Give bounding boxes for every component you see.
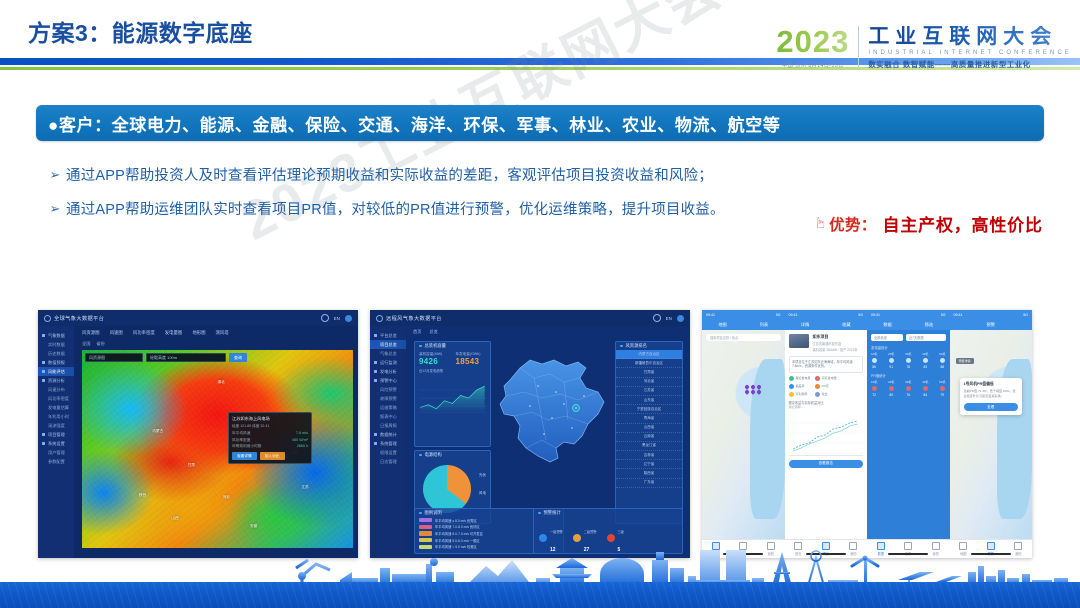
logo-year-sub: 中国·苏州 8月14日-15日 <box>782 62 844 69</box>
sidebar-item[interactable]: 日报周报 <box>370 421 406 430</box>
project-title: 如东项目 <box>813 334 858 340</box>
rank-row-label: 黑龙江省 <box>642 443 656 448</box>
rank-card[interactable]: 风资源排名 内蒙古自治区 新疆维吾尔自治区 甘肃省 河北省 江苏省 山东省 宁夏… <box>615 341 683 524</box>
avatar[interactable] <box>345 315 352 322</box>
alert-chip[interactable]: 预警详情 <box>956 358 974 364</box>
nav-item[interactable]: 预警 <box>987 322 995 328</box>
status-bar: 09:41 5G <box>950 310 1033 319</box>
advantage-callout: ☝ 优势： 自主产权，高性价比 <box>816 211 1043 236</box>
climate-logo-icon <box>376 315 383 322</box>
sidebar-item[interactable]: 平台总览 <box>370 331 406 340</box>
data-column: 5#机88 <box>939 352 945 369</box>
rank-row-label: 吉林省 <box>644 453 655 458</box>
rank-row[interactable]: 新疆维吾尔自治区 <box>616 359 682 368</box>
unit-filter-value: 全部机组 <box>874 335 887 340</box>
rank-row[interactable]: 吉林省 <box>616 451 682 460</box>
height-select-value: 轮毂高度 100m <box>150 355 177 361</box>
popup-row: 风功率密度 465 W/m² <box>232 438 308 443</box>
sidebar-item-label: 年利用小时 <box>42 414 69 420</box>
sidebar-item[interactable]: 年利用小时 <box>38 412 74 421</box>
phone-map-screen[interactable]: 09:41 5G 地图 列表 搜索项目名称 / <box>702 310 785 558</box>
query-button[interactable]: 查询 <box>229 353 247 362</box>
data-panel: 全部机组 近7天数据 发电量统计 1#机86 2#机91 3#机78 4#机83… <box>867 330 950 540</box>
stat-metric: 年发电量(GWh) 18543 <box>456 352 487 366</box>
page-title: 方案3：能源数字底座 <box>28 14 253 48</box>
bullet-marker: ➢ <box>44 162 66 190</box>
section-title: 发电量统计 <box>871 345 946 350</box>
search-input[interactable]: 搜索项目名称 / 地点 <box>706 334 781 341</box>
rank-row-label: 山西省 <box>644 425 655 430</box>
map-pin-icon <box>744 389 750 395</box>
status-network: 5G <box>858 313 863 317</box>
map-popup-card[interactable]: 江苏如东海上风电场 经度 121.85 纬度 32.41 年平均风速 7.8 m… <box>228 412 312 464</box>
map-canvas[interactable]: 预警详情 1号风机PR值偏低 当前PR值 72.4%，低于阈值 80%。建议检查… <box>950 330 1033 540</box>
tab-item[interactable]: 测风塔 <box>216 330 229 336</box>
rank-card-header: 风资源排名 <box>616 342 682 350</box>
report-button[interactable]: 查看报告 <box>789 460 864 468</box>
sidebar-item[interactable]: 系统管理 <box>370 439 406 448</box>
climate-app-title: 远程风气象大数据平台 <box>386 315 442 322</box>
eiffel-tower-icon <box>772 552 792 586</box>
tab-item[interactable]: 风资源图 <box>82 330 100 336</box>
weather-subtabs[interactable]: 全国 省份 <box>74 339 358 348</box>
chart-legend: 理论预期 — <box>789 405 864 409</box>
sidebar-item-label: 风能评估 <box>48 369 65 375</box>
status-bar: 09:41 5G <box>785 310 868 319</box>
customer-banner: ●客户：全球电力、能源、金融、保险、交通、海洋、环保、军事、林业、农业、物流、航… <box>36 105 1044 141</box>
status-network: 5G <box>1023 313 1028 317</box>
metric-cell[interactable]: PR值 <box>815 384 838 389</box>
sidebar-item[interactable]: 历史数据 <box>38 349 74 358</box>
customer-banner-label: 客户：全球电力、能源、金融、保险、交通、海洋、环保、军事、林业、农业、物流、航空… <box>59 116 781 135</box>
sidebar-item-label: 数据统计 <box>380 432 397 438</box>
pie-card-title: 电源结构 <box>425 452 442 458</box>
sidebar-item-label: 预警中心 <box>380 378 397 384</box>
popup-title: 江苏如东海上风电场 <box>232 416 308 422</box>
alert-action-button[interactable]: 处理 <box>964 403 1019 411</box>
wind-resource-heatmap[interactable]: 内蒙古 甘肃 陕西 山西 河北 山东 河南 江苏 安徽 湖北 风资源图 轮毂高度… <box>82 350 353 548</box>
sidebar-item-label: 数值预报 <box>48 360 65 366</box>
status-time: 09:41 <box>706 313 715 317</box>
popup-row: 年等效利用小时数 2860 h <box>232 444 308 449</box>
project-subtitle: 江苏省南通市如东县 <box>813 341 858 346</box>
sidebar-item[interactable]: 系统设置 <box>38 439 74 448</box>
sidebar-item-label: 资源分析 <box>48 378 65 384</box>
sidebar-item-label: 气象总览 <box>374 351 397 357</box>
sidebar-item[interactable]: 气象总览 <box>370 349 406 358</box>
climate-titlebar: 远程风气象大数据平台 EN <box>370 310 690 326</box>
nav-bar[interactable]: 数据 筛选 <box>867 319 950 330</box>
rank-row[interactable]: 黑龙江省 <box>616 442 682 451</box>
map-pin-cluster[interactable] <box>745 385 762 394</box>
height-select[interactable]: 轮毂高度 100m <box>146 353 226 362</box>
tab-item[interactable]: 风速图 <box>110 330 123 336</box>
rank-row-label: 广东省 <box>644 480 655 485</box>
project-meta: 装机容量 300MW · 投产 2021年 <box>813 347 858 352</box>
map-label: 安徽 <box>250 524 257 529</box>
metric-cell[interactable]: 可利用率 <box>789 392 812 397</box>
bullet-item: ➢ 通过APP帮助投资人及时查看评估理论预期收益和实际收益的差距，客观评估项目投… <box>44 162 814 190</box>
data-columns: 1#机86 2#机91 3#机78 4#机83 5#机88 <box>871 352 946 369</box>
phone-data-table-screen[interactable]: 09:41 5G 数据 筛选 全部机组 近7天数据 发电量统计 <box>867 310 950 558</box>
data-column: 3#机78 <box>905 352 911 369</box>
range-filter-value: 近7天数据 <box>909 335 924 340</box>
metric-label: 理论发电量 <box>796 376 811 380</box>
detail-header: 如东项目 江苏省南通市如东县 装机容量 300MW · 投产 2021年 <box>789 334 864 352</box>
language-label[interactable]: EN <box>334 316 340 321</box>
subtab-item[interactable]: 省份 <box>96 341 104 347</box>
popup-row-value: 465 W/m² <box>292 438 308 443</box>
map-icon <box>959 542 967 550</box>
climate-content: 首页 总览 <box>406 326 690 558</box>
warning-card[interactable]: 预警统计 一级预警12 二级预警27 三级5 <box>533 508 683 554</box>
status-time: 09:41 <box>789 313 798 317</box>
metric-cell[interactable]: 理论发电量 <box>789 376 812 381</box>
section-title: PR值统计 <box>871 373 946 378</box>
legend-row-label: 年平均风速 6.0-7.0 m/s 可开发区 <box>435 531 483 536</box>
sidebar-item-label: 系统管理 <box>380 441 397 447</box>
subtab-item[interactable]: 全国 <box>82 341 90 347</box>
sidebar-item-active[interactable]: 项目总览 <box>370 340 406 349</box>
alert-icon <box>987 542 995 550</box>
sidebar-item[interactable]: 运行监测 <box>370 358 406 367</box>
sidebar-item[interactable]: 湍流强度 <box>38 421 74 430</box>
screenshot-strip: 全球气象大数据平台 EN 气象数据 实时数据 历史数据 数值预报 风能评估 资源… <box>38 310 1032 558</box>
column-header: 3#机 <box>905 352 911 356</box>
nav-item[interactable]: 地图 <box>718 322 726 328</box>
water-area <box>750 359 785 519</box>
rank-row[interactable]: 河北省 <box>616 378 682 387</box>
rank-row[interactable]: 陕西省 <box>616 469 682 478</box>
alert-card[interactable]: 1号风机PR值偏低 当前PR值 72.4%，低于阈值 80%。建议检查叶片污染及… <box>960 378 1023 415</box>
sidebar-item-label: 项目管理 <box>48 432 65 438</box>
customer-bullet-mark: ● <box>48 116 59 135</box>
sidebar-item-label: 风险预警 <box>374 387 397 393</box>
alert-title: 1号风机PR值偏低 <box>964 382 1019 387</box>
tower-icon <box>652 552 684 586</box>
sidebar-item[interactable]: 数据统计 <box>370 430 406 439</box>
sidebar-item[interactable]: 预警中心 <box>370 376 406 385</box>
popup-row-key: 风功率密度 <box>232 438 250 443</box>
alert-icon <box>904 542 912 550</box>
project-note: 本项目位于江苏如东近海海域，年平均风速 7.8m/s，资源条件优良。 <box>789 356 864 373</box>
search-placeholder: 搜索项目名称 / 地点 <box>710 335 738 340</box>
rank-row[interactable]: 宁夏回族自治区 <box>616 405 682 414</box>
rank-row-label: 陕西省 <box>644 471 655 476</box>
climate-titlebar-actions: EN <box>653 314 684 322</box>
rank-row-label: 云南省 <box>644 434 655 439</box>
column-header: 1#机 <box>871 352 877 356</box>
metric-grid: 理论发电量 实际发电量 偏差率 PR值 可利用率 收益 <box>789 376 864 397</box>
stat-card-header: 总装机容量 <box>415 342 490 350</box>
metric-cell[interactable]: 偏差率 <box>789 384 812 389</box>
map-pin-icon <box>756 389 762 395</box>
rank-row[interactable]: 辽宁省 <box>616 460 682 469</box>
rank-row[interactable]: 江苏省 <box>616 387 682 396</box>
layer-select[interactable]: 风资源图 <box>85 353 143 362</box>
rank-row-label: 新疆维吾尔自治区 <box>635 361 663 366</box>
popup-row-value: 7.8 m/s <box>296 431 308 436</box>
breadcrumb-item[interactable]: 首页 <box>413 329 421 335</box>
metric-label: 收益 <box>822 392 828 396</box>
breadcrumb[interactable]: 首页 总览 <box>406 326 690 337</box>
bullet-text: 通过APP帮助投资人及时查看评估理论预期收益和实际收益的差距，客观评估项目投资收… <box>66 162 713 190</box>
weather-titlebar: 全球气象大数据平台 EN <box>38 310 358 326</box>
weather-content: 风资源图 风速图 风功率密度 发电量图 地形图 测风塔 全国 省份 内蒙古 甘肃 <box>74 326 358 558</box>
sidebar-item-label: 历史数据 <box>42 351 65 357</box>
sidebar-item-label: 发电量估算 <box>42 405 69 411</box>
legend-card-title: 图例说明 <box>425 510 442 516</box>
skyline-ground <box>0 582 1080 608</box>
data-column: 1#机72 <box>871 380 877 397</box>
language-label[interactable]: EN <box>666 316 672 321</box>
tab-item[interactable]: 风功率密度 <box>133 330 155 336</box>
stat-metrics: 装机容量(MW) 9426 年发电量(GWh) 18543 <box>415 350 490 368</box>
popup-row-value: 2860 h <box>297 444 308 449</box>
popup-row-key: 年平均风速 <box>232 431 250 436</box>
data-column: 2#机80 <box>888 380 894 397</box>
sidebar-item-active[interactable]: 风能评估 <box>38 367 74 376</box>
sidebar-item-label: 运行监测 <box>380 360 397 366</box>
sidebar-item[interactable]: 发电分析 <box>370 367 406 376</box>
popup-coords: 经度 121.85 纬度 32.41 <box>232 424 308 429</box>
logo-year: 2023 <box>776 26 849 57</box>
rank-row[interactable]: 山东省 <box>616 396 682 405</box>
status-network: 5G <box>941 313 946 317</box>
sidebar-item-label: 日志管理 <box>374 459 397 465</box>
sidebar-item[interactable]: 日志管理 <box>370 457 406 466</box>
bullet-list: ➢ 通过APP帮助投资人及时查看评估理论预期收益和实际收益的差距，客观评估项目投… <box>44 162 814 230</box>
sidebar-item[interactable]: 风速分布 <box>38 385 74 394</box>
project-thumbnail <box>789 334 809 348</box>
sidebar-item[interactable]: 运维策略 <box>370 403 406 412</box>
data-column: 3#机76 <box>905 380 911 397</box>
map-label: 湖北 <box>218 380 225 385</box>
sidebar-item[interactable]: 数值预报 <box>38 358 74 367</box>
data-column: 4#机83 <box>922 352 928 369</box>
range-filter[interactable]: 近7天数据 <box>906 334 946 341</box>
column-header: 4#机 <box>922 380 928 384</box>
metric-label: 偏差率 <box>796 384 805 388</box>
nav-item[interactable]: 详情 <box>801 322 809 328</box>
sidebar-item[interactable]: 发电量估算 <box>38 403 74 412</box>
legend-row-label: 年平均风速 7.0-8.0 m/s 良好区 <box>435 524 480 529</box>
map-toolbar[interactable]: 风资源图 轮毂高度 100m 查询 <box>85 353 350 362</box>
climate-sidebar[interactable]: 平台总览 项目总览 气象总览 运行监测 发电分析 预警中心 风险预警 故障预警 … <box>370 326 406 558</box>
data-icon <box>877 542 885 550</box>
sidebar-item-label: 参数配置 <box>42 459 65 465</box>
bullet-text: 通过APP帮助运维团队实时查看项目PR值，对较低的PR值进行预警，优化运维策略，… <box>66 196 725 224</box>
status-time: 09:41 <box>871 313 880 317</box>
metric-label: PR值 <box>822 384 829 388</box>
sidebar-item-label: 实时数据 <box>42 342 65 348</box>
data-column: 4#机84 <box>922 380 928 397</box>
nav-item[interactable]: 筛选 <box>925 322 933 328</box>
sidebar-item[interactable]: 用户管理 <box>38 448 74 457</box>
phone-alert-map-screen[interactable]: 09:41 5G 预警 预警详情 1号风机PR值偏低 当前PR值 72.4%，低… <box>950 310 1033 558</box>
sidebar-item-label: 发电分析 <box>380 369 397 375</box>
sidebar-item[interactable]: 实时数据 <box>38 340 74 349</box>
metric-label: 实际发电量 <box>822 376 837 380</box>
column-header: 1#机 <box>871 380 877 384</box>
map-label: 内蒙古 <box>152 429 163 434</box>
weather-sidebar[interactable]: 气象数据 实时数据 历史数据 数值预报 风能评估 资源分析 风速分布 风功率密度… <box>38 326 74 558</box>
stat-metric-value: 9426 <box>419 357 450 366</box>
screenshot-climate-dashboard[interactable]: 远程风气象大数据平台 EN 平台总览 项目总览 气象总览 运行监测 发电分析 预… <box>370 310 690 558</box>
warning-stat-key: 一级预警 <box>550 530 563 534</box>
metric-cell[interactable]: 实际发电量 <box>815 376 838 381</box>
sidebar-item[interactable]: 风险预警 <box>370 385 406 394</box>
sidebar-item-label: 湍流强度 <box>42 423 65 429</box>
logo-tagline: 数实融合 数智赋能——高质量推进新型工业化 <box>868 59 1072 70</box>
popup-actions: 查看详情 加入对比 <box>232 452 308 460</box>
rank-row[interactable]: 云南省 <box>616 433 682 442</box>
rank-row-label: 内蒙古自治区 <box>639 352 660 357</box>
status-network: 5G <box>776 313 781 317</box>
legend-row-label: 年平均风速 < 5.0 m/s 较差区 <box>435 544 477 549</box>
avatar[interactable] <box>677 315 684 322</box>
unit-filter[interactable]: 全部机组 <box>871 334 903 341</box>
sidebar-item[interactable]: 资源分析 <box>38 376 74 385</box>
tab-item[interactable]: 地形图 <box>192 330 205 336</box>
weather-app-title: 全球气象大数据平台 <box>54 315 104 322</box>
layer-select-value: 风资源图 <box>89 355 105 361</box>
skyline-silhouette <box>0 550 1080 586</box>
rank-row-label: 河北省 <box>644 379 655 384</box>
nav-bar[interactable]: 详情 收藏 <box>785 319 868 330</box>
nav-item[interactable]: 收藏 <box>842 322 850 328</box>
popup-row-key: 年等效利用小时数 <box>232 444 262 449</box>
user-icon <box>1014 542 1022 550</box>
popup-compare-button[interactable]: 加入对比 <box>260 452 285 460</box>
advantage-label: 优势： <box>829 213 876 235</box>
filter-row[interactable]: 全部机组 近7天数据 <box>871 334 946 341</box>
map-label: 河北 <box>223 495 230 500</box>
weather-titlebar-actions: EN <box>321 314 352 322</box>
logo-year-block: 2023 中国·苏州 8月14日-15日 <box>776 26 859 69</box>
sidebar-item-label: 报表中心 <box>374 414 397 420</box>
rank-row-label: 宁夏回族自治区 <box>637 407 662 412</box>
slide-root: 方案3：能源数字底座 2023 中国·苏州 8月14日-15日 工业互联网大会 … <box>0 0 1080 608</box>
conference-logo: 2023 中国·苏州 8月14日-15日 工业互联网大会 INDUSTRIAL … <box>776 26 1072 70</box>
legend-row-label: 年平均风速 5.0-6.0 m/s 一般区 <box>435 538 480 543</box>
column-header: 5#机 <box>939 380 945 384</box>
warning-stat-key: 二级预警 <box>584 530 597 534</box>
user-icon <box>932 542 940 550</box>
rank-row[interactable]: 甘肃省 <box>616 368 682 377</box>
logo-en-title: INDUSTRIAL INTERNET CONFERENCE <box>868 50 1072 56</box>
pie-legend-item: 风电 <box>479 491 486 496</box>
tab-item[interactable]: 发电量图 <box>165 330 183 336</box>
sidebar-item[interactable]: 故障预警 <box>370 394 406 403</box>
rank-row-label: 青海省 <box>644 416 655 421</box>
user-icon <box>849 542 857 550</box>
column-header: 2#机 <box>888 380 894 384</box>
alert-body: 当前PR值 72.4%，低于阈值 80%。建议检查叶片污染及变桨系统。 <box>964 389 1019 399</box>
metric-cell[interactable]: 收益 <box>815 392 838 397</box>
detail-sheet: 如东项目 江苏省南通市如东县 装机容量 300MW · 投产 2021年 本项目… <box>785 330 868 540</box>
map-label: 江苏 <box>302 485 309 490</box>
project-icon <box>822 542 830 550</box>
data-columns: 1#机72 2#机80 3#机76 4#机84 5#机79 <box>871 380 946 397</box>
rank-row-label: 甘肃省 <box>644 370 655 375</box>
column-header: 4#机 <box>922 352 928 356</box>
sidebar-item[interactable]: 项目管理 <box>38 430 74 439</box>
screenshot-weather-platform[interactable]: 全球气象大数据平台 EN 气象数据 实时数据 历史数据 数值预报 风能评估 资源… <box>38 310 358 558</box>
nav-bar[interactable]: 预警 <box>950 319 1033 330</box>
phone-project-detail-screen[interactable]: 09:41 5G 详情 收藏 如东项目 江苏省南通市如东县 <box>785 310 868 558</box>
pie-card-header: 电源结构 <box>415 451 490 459</box>
pie-legend-item: 光伏 <box>479 473 486 478</box>
bullet-item: ➢ 通过APP帮助运维团队实时查看项目PR值，对较低的PR值进行预警，优化运维策… <box>44 196 814 224</box>
sidebar-item-label: 平台总览 <box>380 333 397 339</box>
trend-line-chart <box>419 382 486 416</box>
nav-item[interactable]: 列表 <box>760 322 768 328</box>
breadcrumb-item[interactable]: 总览 <box>429 329 437 335</box>
metric-label: 可利用率 <box>796 392 808 396</box>
status-time: 09:41 <box>954 313 963 317</box>
sidebar-item-label: 系统设置 <box>48 441 65 447</box>
gate-tower-icon <box>696 550 750 586</box>
help-icon[interactable] <box>653 314 661 322</box>
status-bar: 09:41 5G <box>867 310 950 319</box>
sidebar-item[interactable]: 参数配置 <box>38 457 74 466</box>
rank-row[interactable]: 山西省 <box>616 424 682 433</box>
screenshot-mobile-apps[interactable]: 09:41 5G 地图 列表 搜索项目名称 / <box>702 310 1032 558</box>
data-column: 1#机86 <box>871 352 877 369</box>
sidebar-item-label: 项目总览 <box>374 342 397 348</box>
rank-row[interactable]: 广东省 <box>616 479 682 488</box>
warning-card-header: 预警统计 <box>534 509 682 517</box>
china-map[interactable] <box>494 340 614 472</box>
column-header: 2#机 <box>888 352 894 356</box>
rank-row[interactable]: 青海省 <box>616 414 682 423</box>
footer-skyline <box>0 550 1080 608</box>
sidebar-item[interactable]: 气象数据 <box>38 331 74 340</box>
rank-row-label: 辽宁省 <box>644 462 655 467</box>
stat-metric-value: 18543 <box>456 357 487 366</box>
sidebar-item-label: 风速分布 <box>42 387 65 393</box>
legend-row-label: 年平均风速 ≥ 8.0 m/s 优秀区 <box>435 518 477 523</box>
column-header: 3#机 <box>905 380 911 384</box>
map-label: 陕西 <box>139 493 146 498</box>
sidebar-item-label: 故障预警 <box>374 396 397 402</box>
nav-bar[interactable]: 地图 列表 <box>702 319 785 330</box>
thumbs-up-icon: ☝ <box>816 216 825 231</box>
help-icon[interactable] <box>321 314 329 322</box>
weather-tabs[interactable]: 风资源图 风速图 风功率密度 发电量图 地形图 测风塔 <box>74 326 358 339</box>
warning-card-title: 预警统计 <box>544 510 561 516</box>
stat-card[interactable]: 总装机容量 装机容量(MW) 9426 年发电量(GWh) 18543 近12月… <box>414 341 491 447</box>
customer-banner-text: ●客户：全球电力、能源、金融、保险、交通、海洋、环保、军事、林业、农业、物流、航… <box>36 111 780 136</box>
rank-row[interactable]: 内蒙古自治区 <box>616 350 682 359</box>
data-column: 5#机79 <box>939 380 945 397</box>
robot-joint-icon <box>298 572 306 580</box>
sidebar-item[interactable]: 报表中心 <box>370 412 406 421</box>
popup-detail-button[interactable]: 查看详情 <box>232 452 257 460</box>
sidebar-item[interactable]: 风功率密度 <box>38 394 74 403</box>
map-canvas[interactable]: 搜索项目名称 / 地点 <box>702 330 785 540</box>
sidebar-item[interactable]: 权限设置 <box>370 448 406 457</box>
mobile-screen-row: 09:41 5G 地图 列表 搜索项目名称 / <box>702 310 1032 558</box>
logo-cn-title: 工业互联网大会 <box>868 26 1072 48</box>
nav-item[interactable]: 数据 <box>883 322 891 328</box>
status-bar: 09:41 5G <box>702 310 785 319</box>
rank-card-title: 风资源排名 <box>626 343 647 349</box>
project-icon <box>739 542 747 550</box>
sidebar-item-label: 用户管理 <box>42 450 65 456</box>
map-label: 甘肃 <box>188 463 195 468</box>
